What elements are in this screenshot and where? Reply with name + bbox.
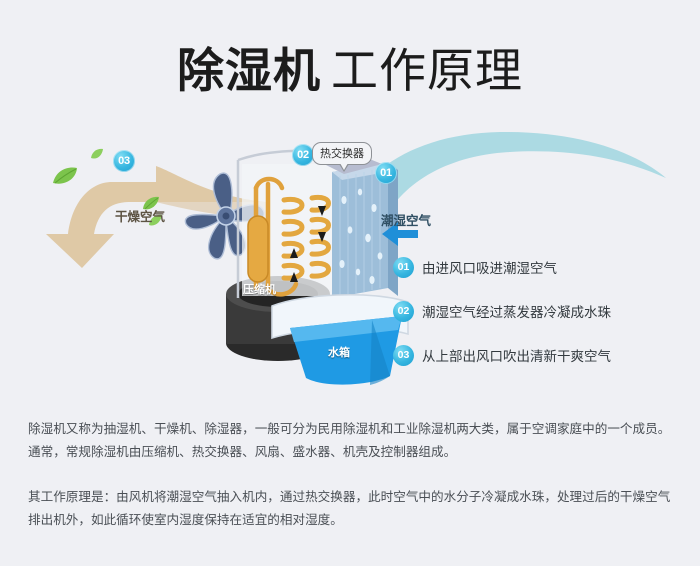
label-wet-air: 潮湿空气: [381, 210, 431, 229]
step-text-02: 潮湿空气经过蒸发器冷凝成水珠: [422, 301, 611, 321]
label-water-tank: 水箱: [328, 344, 350, 360]
list-item: 02 潮湿空气经过蒸发器冷凝成水珠: [393, 300, 693, 322]
leaf-icon: [52, 166, 78, 186]
page-title: 除湿机工作原理: [0, 32, 700, 101]
description-block: 除湿机又称为抽湿机、干燥机、除湿器，一般可分为民用除湿机和工业除湿机两大类，属于…: [28, 418, 678, 532]
badge-03: 03: [113, 150, 135, 172]
step-text-01: 由进风口吸进潮湿空气: [422, 257, 557, 277]
badge-02: 02: [292, 144, 314, 166]
title-bold-part: 除湿机: [177, 44, 321, 97]
label-dry-air: 干燥空气: [115, 206, 165, 225]
list-item: 03 从上部出风口吹出清新干爽空气: [393, 344, 693, 366]
badge-01: 01: [375, 162, 397, 184]
steps-list: 01 由进风口吸进潮湿空气 02 潮湿空气经过蒸发器冷凝成水珠 03 从上部出风…: [393, 256, 693, 388]
infographic-page: 除湿机工作原理: [0, 0, 700, 566]
step-badge-01: 01: [393, 257, 414, 278]
paragraph-2: 其工作原理是：由风机将潮湿空气抽入机内，通过热交换器，此时空气中的水分子冷凝成水…: [28, 486, 678, 532]
step-badge-02: 02: [393, 301, 414, 322]
paragraph-1: 除湿机又称为抽湿机、干燥机、除湿器，一般可分为民用除湿机和工业除湿机两大类，属于…: [28, 418, 678, 464]
leaf-icon: [90, 148, 104, 160]
title-light-part: 工作原理: [331, 44, 523, 97]
label-heat-exchanger: 热交换器: [312, 142, 372, 165]
step-text-03: 从上部出风口吹出清新干爽空气: [422, 345, 611, 365]
list-item: 01 由进风口吸进潮湿空气: [393, 256, 693, 278]
step-badge-03: 03: [393, 345, 414, 366]
label-compressor: 压缩机: [243, 281, 276, 297]
